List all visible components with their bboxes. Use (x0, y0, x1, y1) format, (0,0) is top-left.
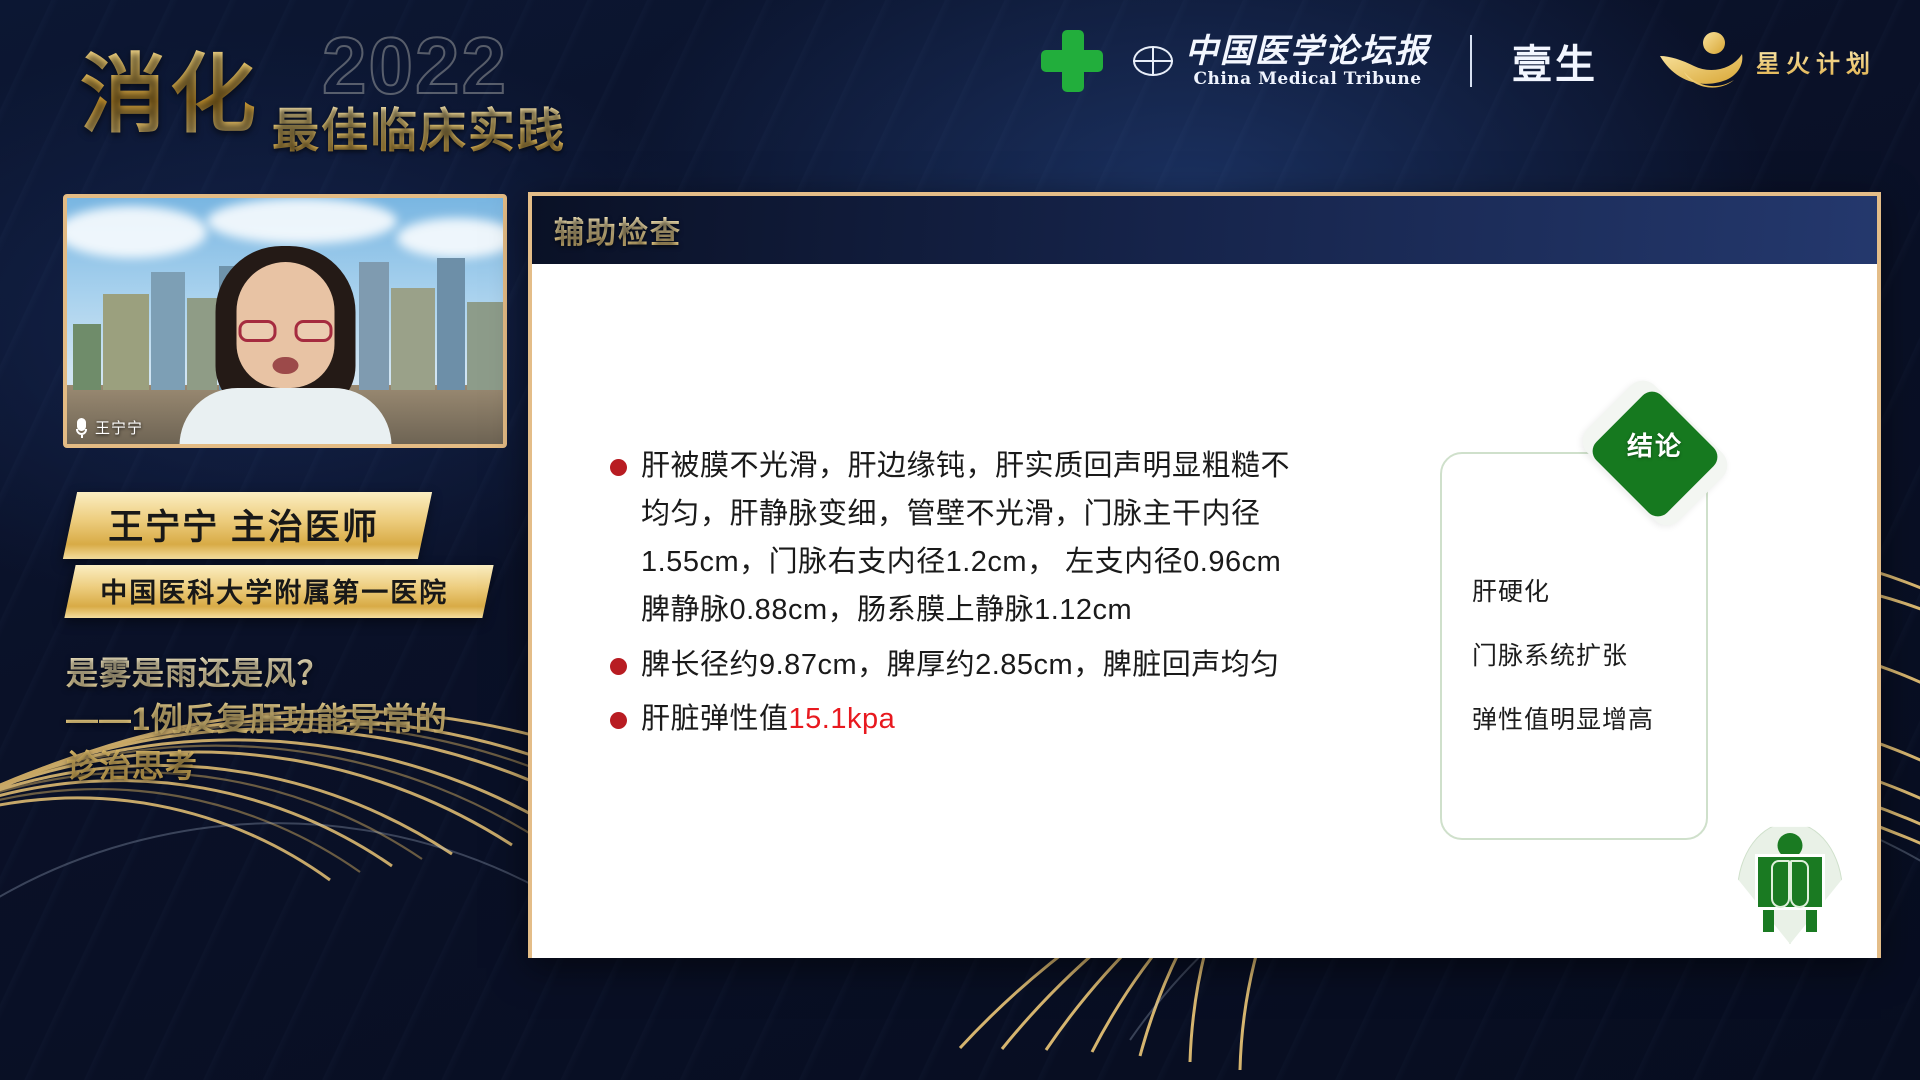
speaker-affiliation-badge: 中国医科大学附属第一医院 (64, 565, 493, 618)
bullet-line: 肝被膜不光滑，肝边缘钝，肝实质回声明显粗糙不 (641, 442, 1290, 490)
bullet-line: 1.55cm，门脉右支内径1.2cm， 左支内径0.96cm (641, 538, 1290, 586)
bullet-text: 肝被膜不光滑，肝边缘钝，肝实质回声明显粗糙不 均匀，肝静脉变细，管壁不光滑，门脉… (641, 442, 1290, 635)
talk-title-line-1: 是雾是雨还是风？ (66, 650, 506, 696)
speaker-video-tile[interactable]: 王宁宁 (63, 194, 507, 448)
bullet-text: 脾长径约9.87cm，脾厚约2.85cm，脾脏回声均匀 (641, 641, 1280, 689)
eyeglasses-left (238, 320, 276, 342)
flying-figure-icon (1654, 30, 1746, 92)
header-logo-group: 中国医学论坛报 China Medical Tribune 壹生 (1041, 30, 1876, 92)
event-title-sub: 最佳临床实践 (272, 92, 566, 161)
examination-bullet-list: 肝被膜不光滑，肝边缘钝，肝实质回声明显粗糙不 均匀，肝静脉变细，管壁不光滑，门脉… (610, 442, 1420, 749)
eyeglasses-right (294, 320, 332, 342)
building-shape (103, 294, 149, 390)
publisher-name-cn: 中国医学论坛报 (1185, 34, 1430, 67)
speaker-name-text: 王宁宁 主治医师 (108, 499, 379, 550)
program-label: 星火计划 (1756, 44, 1876, 79)
bullet-dot-icon (610, 459, 627, 476)
elasticity-value-highlight: 15.1kpa (789, 703, 896, 735)
cloud-shape (397, 218, 507, 258)
building-shape (467, 302, 505, 390)
list-item: 肝被膜不光滑，肝边缘钝，肝实质回声明显粗糙不 均匀，肝静脉变细，管壁不光滑，门脉… (610, 442, 1420, 635)
event-title-main: 消化 (80, 24, 260, 149)
list-item: 肝硬化 (1472, 572, 1654, 608)
logo-divider (1470, 35, 1472, 87)
publisher-name-en: China Medical Tribune (1185, 71, 1430, 88)
face-shape (236, 262, 334, 388)
list-item: 脾长径约9.87cm，脾厚约2.85cm，脾脏回声均匀 (610, 641, 1420, 689)
speaker-affiliation-text: 中国医科大学附属第一医院 (100, 571, 448, 610)
speaker-info-block: 王宁宁 主治医师 中国医科大学附属第一医院 (70, 492, 520, 618)
page-header: 2022 消化 最佳临床实践 中国医学论坛报 China Medical Tri… (0, 0, 1920, 165)
conclusion-box: 结论 肝硬化 门脉系统扩张 弹性值明显增高 (1440, 452, 1708, 840)
participant-name: 王宁宁 (95, 417, 143, 438)
mouth-shape (272, 357, 298, 374)
slide-content: 肝被膜不光滑，肝边缘钝，肝实质回声明显粗糙不 均匀，肝静脉变细，管壁不光滑，门脉… (532, 264, 1877, 958)
bullet-line: 均匀，肝静脉变细，管壁不光滑，门脉主干内径 (641, 490, 1290, 538)
building-shape (73, 324, 101, 390)
talk-title: 是雾是雨还是风？ ——1例反复肝功能异常的 诊治思考 (66, 650, 506, 789)
publisher-logo: 中国医学论坛报 China Medical Tribune (1133, 34, 1430, 88)
bullet-line: 脾长径约9.87cm，脾厚约2.85cm，脾脏回声均匀 (641, 641, 1280, 689)
presentation-slide[interactable]: 辅助检查 肝被膜不光滑，肝边缘钝，肝实质回声明显粗糙不 均匀，肝静脉变细，管壁不… (528, 192, 1881, 958)
conclusion-list: 肝硬化 门脉系统扩张 弹性值明显增高 (1472, 572, 1654, 764)
bullet-line: 脾静脉0.88cm，肠系膜上静脉1.12cm (641, 586, 1290, 634)
radiology-chest-pin-icon (1737, 822, 1843, 944)
green-medical-cross-icon (1041, 30, 1103, 92)
globe-icon (1133, 46, 1173, 76)
list-item: 肝脏弹性值15.1kpa (610, 695, 1420, 743)
list-item: 门脉系统扩张 (1472, 636, 1654, 672)
participant-label: 王宁宁 (75, 417, 143, 438)
speaker-portrait (178, 240, 393, 448)
shoulders-shape (179, 388, 391, 448)
bullet-dot-icon (610, 658, 627, 675)
cloud-shape (207, 198, 397, 244)
bullet-line: 肝脏弹性值 (641, 703, 789, 735)
talk-title-line-2: ——1例反复肝功能异常的 (66, 696, 506, 742)
slide-header-bar: 辅助检查 (532, 196, 1877, 264)
building-shape (391, 288, 435, 390)
microphone-icon[interactable] (75, 418, 88, 438)
program-logo: 星火计划 (1654, 30, 1876, 92)
list-item: 弹性值明显增高 (1472, 700, 1654, 736)
bullet-text: 肝脏弹性值15.1kpa (641, 695, 895, 743)
speaker-name-badge: 王宁宁 主治医师 (63, 492, 432, 559)
platform-name: 壹生 (1512, 32, 1598, 90)
conclusion-badge-label: 结论 (1574, 426, 1736, 463)
slide-title: 辅助检查 (554, 208, 682, 252)
building-shape (437, 258, 465, 390)
talk-title-line-3: 诊治思考 (66, 743, 506, 789)
event-logo: 2022 消化 最佳临床实践 (72, 18, 612, 143)
bullet-dot-icon (610, 712, 627, 729)
